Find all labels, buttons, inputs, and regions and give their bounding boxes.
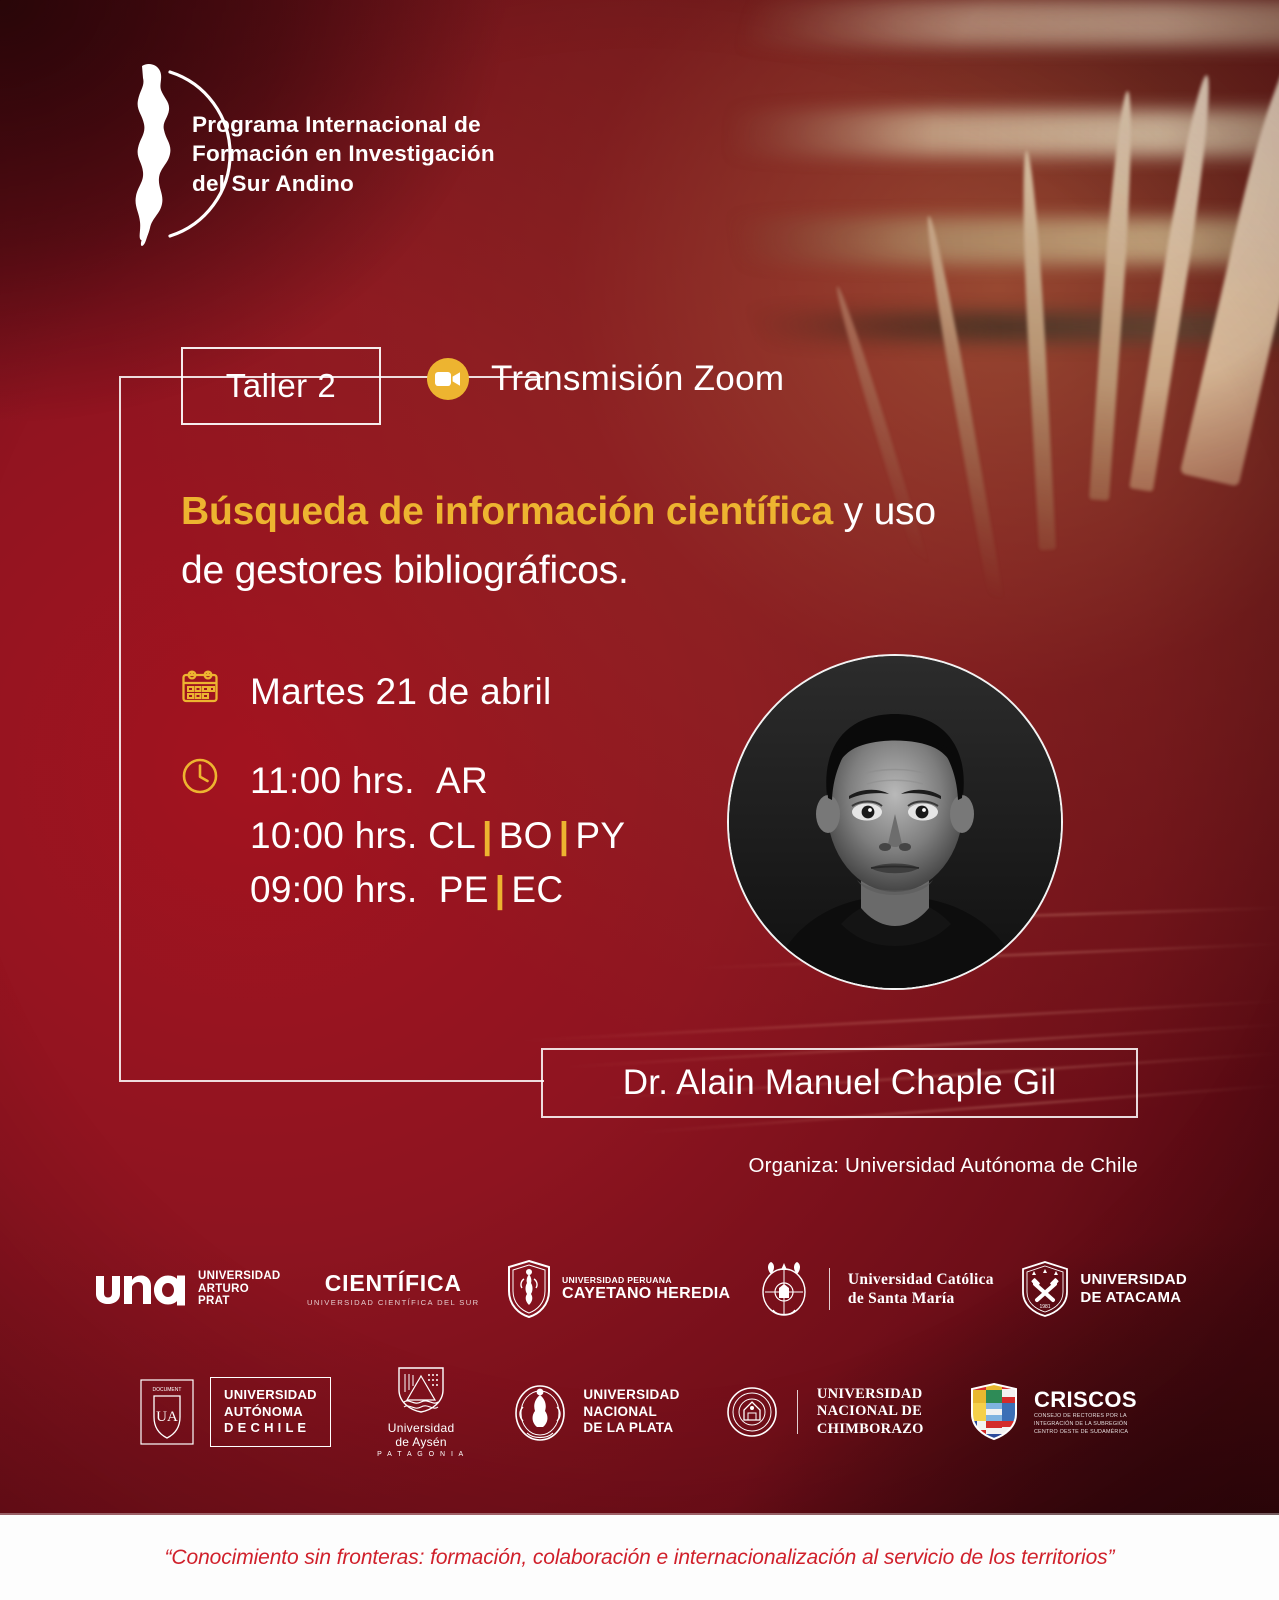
cayetano-heredia-shield-icon [506, 1259, 552, 1319]
timezone-code: PY [575, 815, 625, 856]
svg-text:1981: 1981 [1040, 1304, 1051, 1310]
time-row: 11:00 hrs. AR10:00 hrs. CL|BO|PY09:00 hr… [178, 754, 818, 918]
logo-unlp: UNIVERSIDAD NACIONAL DE LA PLATA [511, 1381, 679, 1443]
logo-cayetano-heredia: UNIVERSIDAD PERUANA CAYETANO HEREDIA [506, 1259, 730, 1319]
logo-ucsm-text: Universidad Católica de Santa María [848, 1270, 994, 1309]
brand-block: Programa Internacional de Formación en I… [112, 58, 532, 238]
logo-cientifica-text: CIENTÍFICA [307, 1271, 480, 1296]
timezone-code: BO [499, 815, 553, 856]
unap-logo-icon [92, 1272, 188, 1306]
logo-uautonoma-text: UNIVERSIDAD AUTÓNOMA D E C H I L E [224, 1387, 317, 1437]
broadcast-row: Transmisión Zoom [427, 358, 784, 400]
schedule-block: Martes 21 de abril 11:00 hrs. AR10:00 hr… [178, 665, 818, 918]
logo-criscos: CRISCOS CONSEJO DE RECTORES POR LA INTEG… [970, 1383, 1140, 1441]
timezone-separator: | [476, 815, 499, 856]
atacama-shield-icon: 1981 [1020, 1260, 1070, 1318]
title-highlight: Búsqueda de información científica [181, 490, 833, 533]
timezone-code: PE [439, 869, 489, 910]
poster-root: Programa Internacional de Formación en I… [0, 0, 1279, 1600]
footer-band: “Conocimiento sin fronteras: formación, … [0, 1515, 1279, 1600]
partner-logos-row-2: DOCUMENT UA UNIVERSIDAD AUTÓNOMA D E C H… [140, 1368, 1140, 1456]
ucsm-crest-icon [757, 1258, 811, 1320]
logo-atacama: 1981 UNIVERSIDAD DE ATACAMA [1020, 1260, 1187, 1318]
svg-text:DOCUMENT: DOCUMENT [153, 1387, 182, 1393]
logo-cientifica-sub: UNIVERSIDAD CIENTÍFICA DEL SUR [307, 1298, 480, 1307]
workshop-badge-label: Taller 2 [226, 367, 336, 405]
logo-unach-text: UNIVERSIDAD NACIONAL DE CHIMBORAZO [817, 1386, 924, 1438]
logo-criscos-sub: CONSEJO DE RECTORES POR LA INTEGRACIÓN D… [1034, 1412, 1140, 1436]
zoom-video-icon [427, 358, 469, 400]
broadcast-label: Transmisión Zoom [491, 359, 784, 399]
logo-aysen-sub: P A T A G O N I A [377, 1451, 465, 1458]
workshop-title: Búsqueda de información científica y uso… [181, 482, 1081, 601]
logo-cientifica: CIENTÍFICA UNIVERSIDAD CIENTÍFICA DEL SU… [307, 1271, 480, 1307]
brand-name: Programa Internacional de Formación en I… [192, 110, 495, 198]
speaker-name-box: Dr. Alain Manuel Chaple Gil [541, 1048, 1138, 1118]
svg-text:UA: UA [156, 1409, 178, 1425]
logo-unach: UNIVERSIDAD NACIONAL DE CHIMBORAZO [726, 1386, 924, 1438]
logo-unap-text: UNIVERSIDAD ARTURO PRAT [198, 1270, 281, 1307]
logo-cayetano-text: CAYETANO HEREDIA [562, 1285, 730, 1302]
timezone-separator: | [553, 815, 576, 856]
organizer-text: Organiza: Universidad Autónoma de Chile [0, 1154, 1138, 1178]
logo-cayetano-sub: UNIVERSIDAD PERUANA [562, 1275, 730, 1285]
criscos-flags-icon [970, 1383, 1018, 1441]
time-line: 10:00 hrs. CL|BO|PY [250, 809, 625, 864]
partner-logos-row-1: UNIVERSIDAD ARTURO PRAT CIENTÍFICA UNIVE… [92, 1253, 1187, 1325]
title-rest: y uso [833, 490, 936, 533]
time-list: 11:00 hrs. AR10:00 hrs. CL|BO|PY09:00 hr… [250, 754, 625, 918]
speaker-portrait [727, 654, 1063, 990]
date-text: Martes 21 de abril [250, 665, 552, 720]
clock-icon [178, 754, 222, 798]
logo-ucsm: Universidad Católica de Santa María [757, 1258, 994, 1320]
logo-ucsm-divider [829, 1268, 830, 1310]
footer-tagline: “Conocimiento sin fronteras: formación, … [165, 1546, 1115, 1570]
timezone-code: EC [511, 869, 563, 910]
logo-aysen-text: Universidad de Aysén [377, 1421, 465, 1450]
workshop-badge: Taller 2 [181, 347, 381, 425]
ua-shield-icon: DOCUMENT UA [140, 1379, 194, 1445]
logo-unach-divider [797, 1390, 798, 1434]
timezone-code: AR [436, 760, 488, 801]
timezone-code: CL [428, 815, 476, 856]
logo-unap: UNIVERSIDAD ARTURO PRAT [92, 1270, 281, 1307]
logo-unlp-text: UNIVERSIDAD NACIONAL DE LA PLATA [583, 1387, 679, 1436]
timezone-separator: | [489, 869, 512, 910]
calendar-icon [178, 665, 222, 709]
logo-aysen: Universidad de Aysén P A T A G O N I A [377, 1366, 465, 1459]
logo-atacama-text: UNIVERSIDAD DE ATACAMA [1080, 1271, 1187, 1307]
time-line: 11:00 hrs. AR [250, 754, 625, 809]
aysen-shield-icon [396, 1366, 446, 1414]
date-row: Martes 21 de abril [178, 665, 818, 720]
unlp-crest-icon [511, 1381, 569, 1443]
logo-uautonoma: DOCUMENT UA UNIVERSIDAD AUTÓNOMA D E C H… [140, 1377, 331, 1447]
time-line: 09:00 hrs. PE|EC [250, 863, 625, 918]
speaker-name: Dr. Alain Manuel Chaple Gil [623, 1063, 1056, 1103]
unach-seal-icon [726, 1386, 778, 1438]
title-line2: de gestores bibliográficos. [181, 549, 629, 592]
logo-criscos-text: CRISCOS [1034, 1388, 1140, 1412]
